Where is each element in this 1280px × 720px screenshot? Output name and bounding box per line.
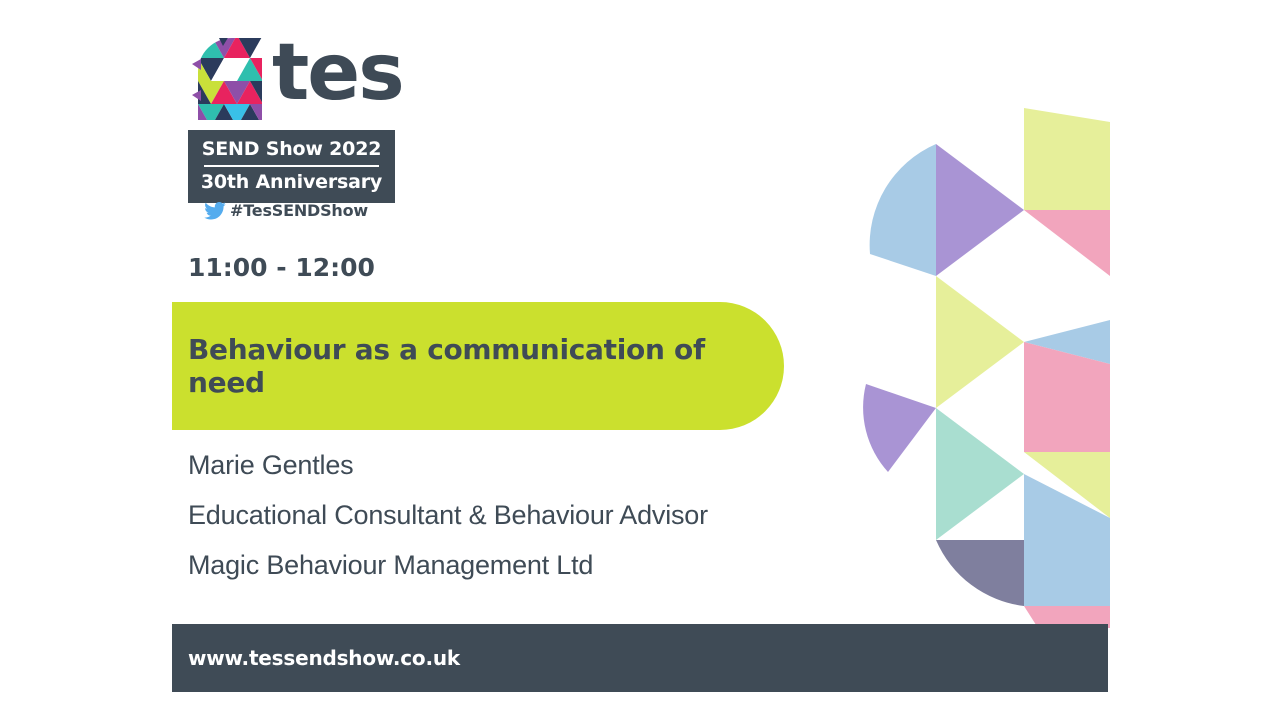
- tes-triangle-mosaic-icon: [192, 38, 268, 120]
- logo-top-row: tes: [188, 34, 403, 120]
- speaker-role: Educational Consultant & Behaviour Advis…: [188, 490, 888, 540]
- speaker-details: Marie Gentles Educational Consultant & B…: [188, 440, 888, 590]
- twitter-bird-icon: [204, 202, 226, 220]
- footer-bar: www.tessendshow.co.uk: [172, 624, 1108, 692]
- session-title-banner: Behaviour as a communication of need: [172, 302, 784, 430]
- speaker-organisation: Magic Behaviour Management Ltd: [188, 540, 888, 590]
- session-time: 11:00 - 12:00: [188, 253, 375, 282]
- send-show-title: SEND Show 2022: [188, 137, 395, 162]
- tes-wordmark: tes: [272, 30, 403, 116]
- speaker-name: Marie Gentles: [188, 440, 888, 490]
- send-show-subtitle: 30th Anniversary: [188, 170, 395, 195]
- hashtag-row: #TesSENDShow: [204, 201, 368, 220]
- slide-canvas: tes SEND Show 2022 30th Anniversary #Tes…: [0, 0, 1280, 720]
- footer-website-url: www.tessendshow.co.uk: [172, 646, 460, 670]
- tes-logo-block: tes SEND Show 2022 30th Anniversary #Tes…: [188, 34, 403, 120]
- send-badge-divider: [204, 165, 379, 167]
- hashtag-label: #TesSENDShow: [230, 201, 368, 220]
- session-title: Behaviour as a communication of need: [172, 333, 784, 399]
- send-show-badge: SEND Show 2022 30th Anniversary: [188, 130, 395, 203]
